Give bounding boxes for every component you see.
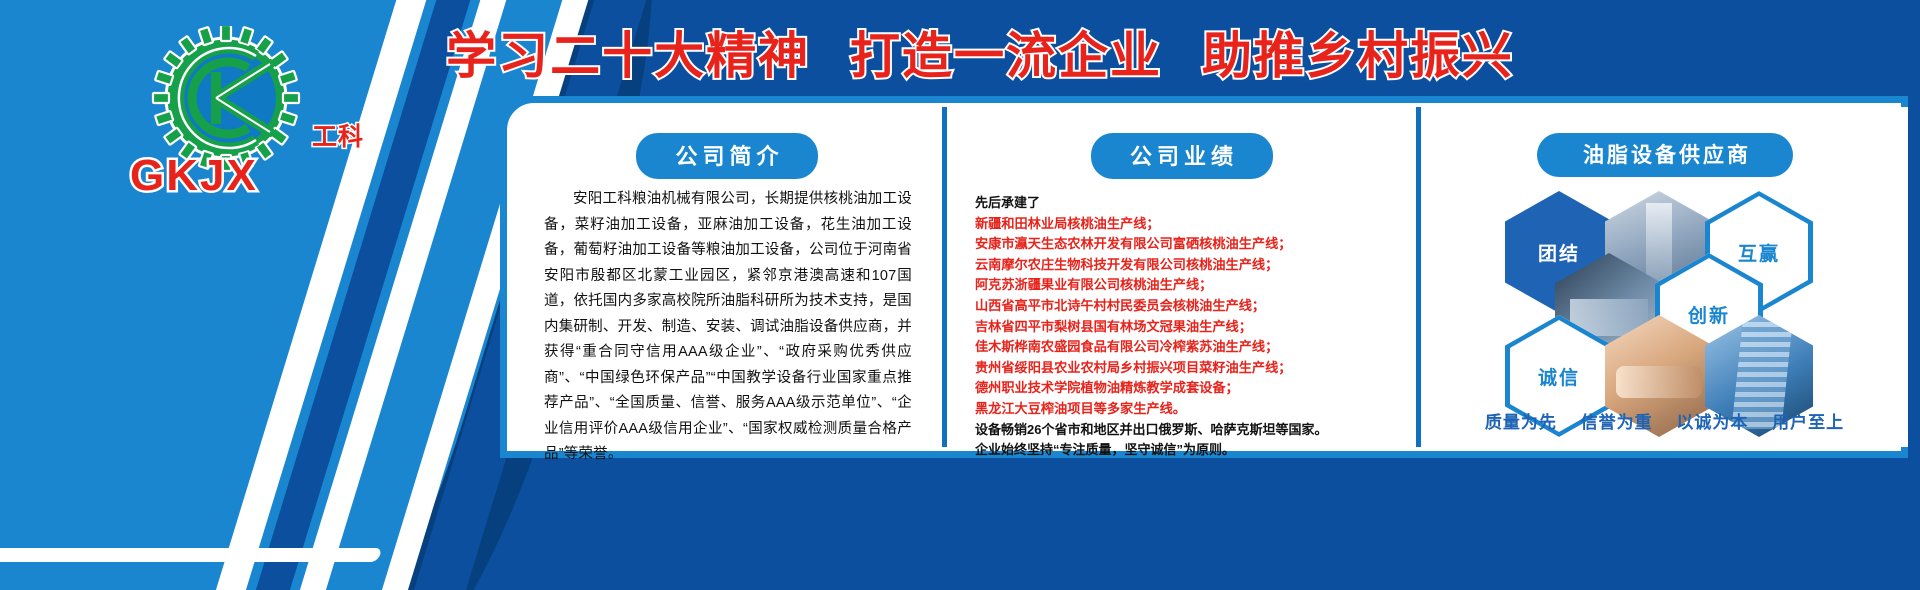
hex-huying-label: 互赢 — [1738, 239, 1780, 266]
panel-heading-company-profile: 公司简介 — [636, 133, 818, 179]
poster-canvas: 工科 GKJX 学习二十大精神 打造一流企业 助推乡村振兴 公司简介 安阳工科粮… — [0, 0, 1920, 590]
supplier-slogan: 质量为先 信誉为重 以诚为本 用户至上 — [1421, 408, 1908, 433]
company-logo: 工科 GKJX — [126, 26, 356, 211]
achievement-item: 德州职业技术学院植物油精炼教学成套设备； — [975, 378, 1392, 399]
panel-company-achievements: 公司业绩 先后承建了 新疆和田林业局核桃油生产线； 安康市瀛天生态农林开发有限公… — [942, 107, 1416, 447]
achievement-item: 黑龙江大豆榨油项目等多家生产线。 — [975, 399, 1392, 420]
title-segment-2: 打造一流企业 — [850, 28, 1162, 84]
achievement-item: 安康市瀛天生态农林开发有限公司富硒核桃油生产线； — [975, 234, 1392, 255]
achievements-tail-line: 企业始终坚持“专注质量，坚守诚信”为原则。 — [975, 440, 1392, 461]
hex-chengxin-label: 诚信 — [1538, 363, 1580, 390]
slogan-part-3: 以诚为本 — [1676, 413, 1748, 432]
company-achievements-text: 先后承建了 新疆和田林业局核桃油生产线； 安康市瀛天生态农林开发有限公司富硒核桃… — [965, 193, 1398, 461]
hexagon-cluster: 团结 互赢 创新 诚信 — [1439, 185, 1890, 397]
achievement-item: 佳木斯桦南农盛园食品有限公司冷榨紫苏油生产线； — [975, 337, 1392, 358]
achievement-item: 山西省高平市北诗午村村民委员会核桃油生产线； — [975, 296, 1392, 317]
panel-heading-oil-equipment-supplier: 油脂设备供应商 — [1537, 133, 1793, 177]
company-profile-text: 安阳工科粮油机械有限公司，长期提供核桃油加工设备，菜籽油加工设备，亚麻油加工设备… — [530, 187, 924, 468]
achievement-item: 新疆和田林业局核桃油生产线； — [975, 214, 1392, 235]
logo-chinese-name: 工科 — [312, 117, 364, 153]
title-segment-3: 助推乡村振兴 — [1202, 28, 1514, 84]
hex-tuanjie-label: 团结 — [1538, 239, 1580, 266]
slogan-part-4: 用户至上 — [1772, 413, 1844, 432]
panel-heading-company-achievements: 公司业绩 — [1091, 133, 1273, 179]
achievements-tail-line: 设备畅销26个省市和地区并出口俄罗斯、哈萨克斯坦等国家。 — [975, 420, 1392, 441]
achievements-lead: 先后承建了 — [975, 193, 1392, 214]
bottom-white-accent — [0, 548, 383, 562]
achievement-item: 阿克苏浙疆果业有限公司核桃油生产线； — [975, 275, 1392, 296]
content-card: 公司简介 安阳工科粮油机械有限公司，长期提供核桃油加工设备，菜籽油加工设备，亚麻… — [512, 107, 1908, 447]
logo-english-name: GKJX — [130, 151, 258, 201]
achievement-item: 吉林省四平市梨树县国有林场文冠果油生产线； — [975, 317, 1392, 338]
slogan-part-1: 质量为先 — [1485, 413, 1557, 432]
poster-title: 学习二十大精神 打造一流企业 助推乡村振兴 — [430, 16, 1530, 88]
hex-chuangxin-label: 创新 — [1688, 301, 1730, 328]
panel-company-profile: 公司简介 安阳工科粮油机械有限公司，长期提供核桃油加工设备，菜籽油加工设备，亚麻… — [512, 107, 942, 447]
achievement-item: 贵州省绥阳县农业农村局乡村振兴项目菜籽油生产线； — [975, 358, 1392, 379]
panel-oil-equipment-supplier: 油脂设备供应商 团结 互赢 创新 诚信 — [1416, 107, 1908, 447]
slogan-part-2: 信誉为重 — [1581, 413, 1653, 432]
achievement-item: 云南摩尔农庄生物科技开发有限公司核桃油生产线； — [975, 255, 1392, 276]
title-segment-1: 学习二十大精神 — [446, 28, 810, 84]
